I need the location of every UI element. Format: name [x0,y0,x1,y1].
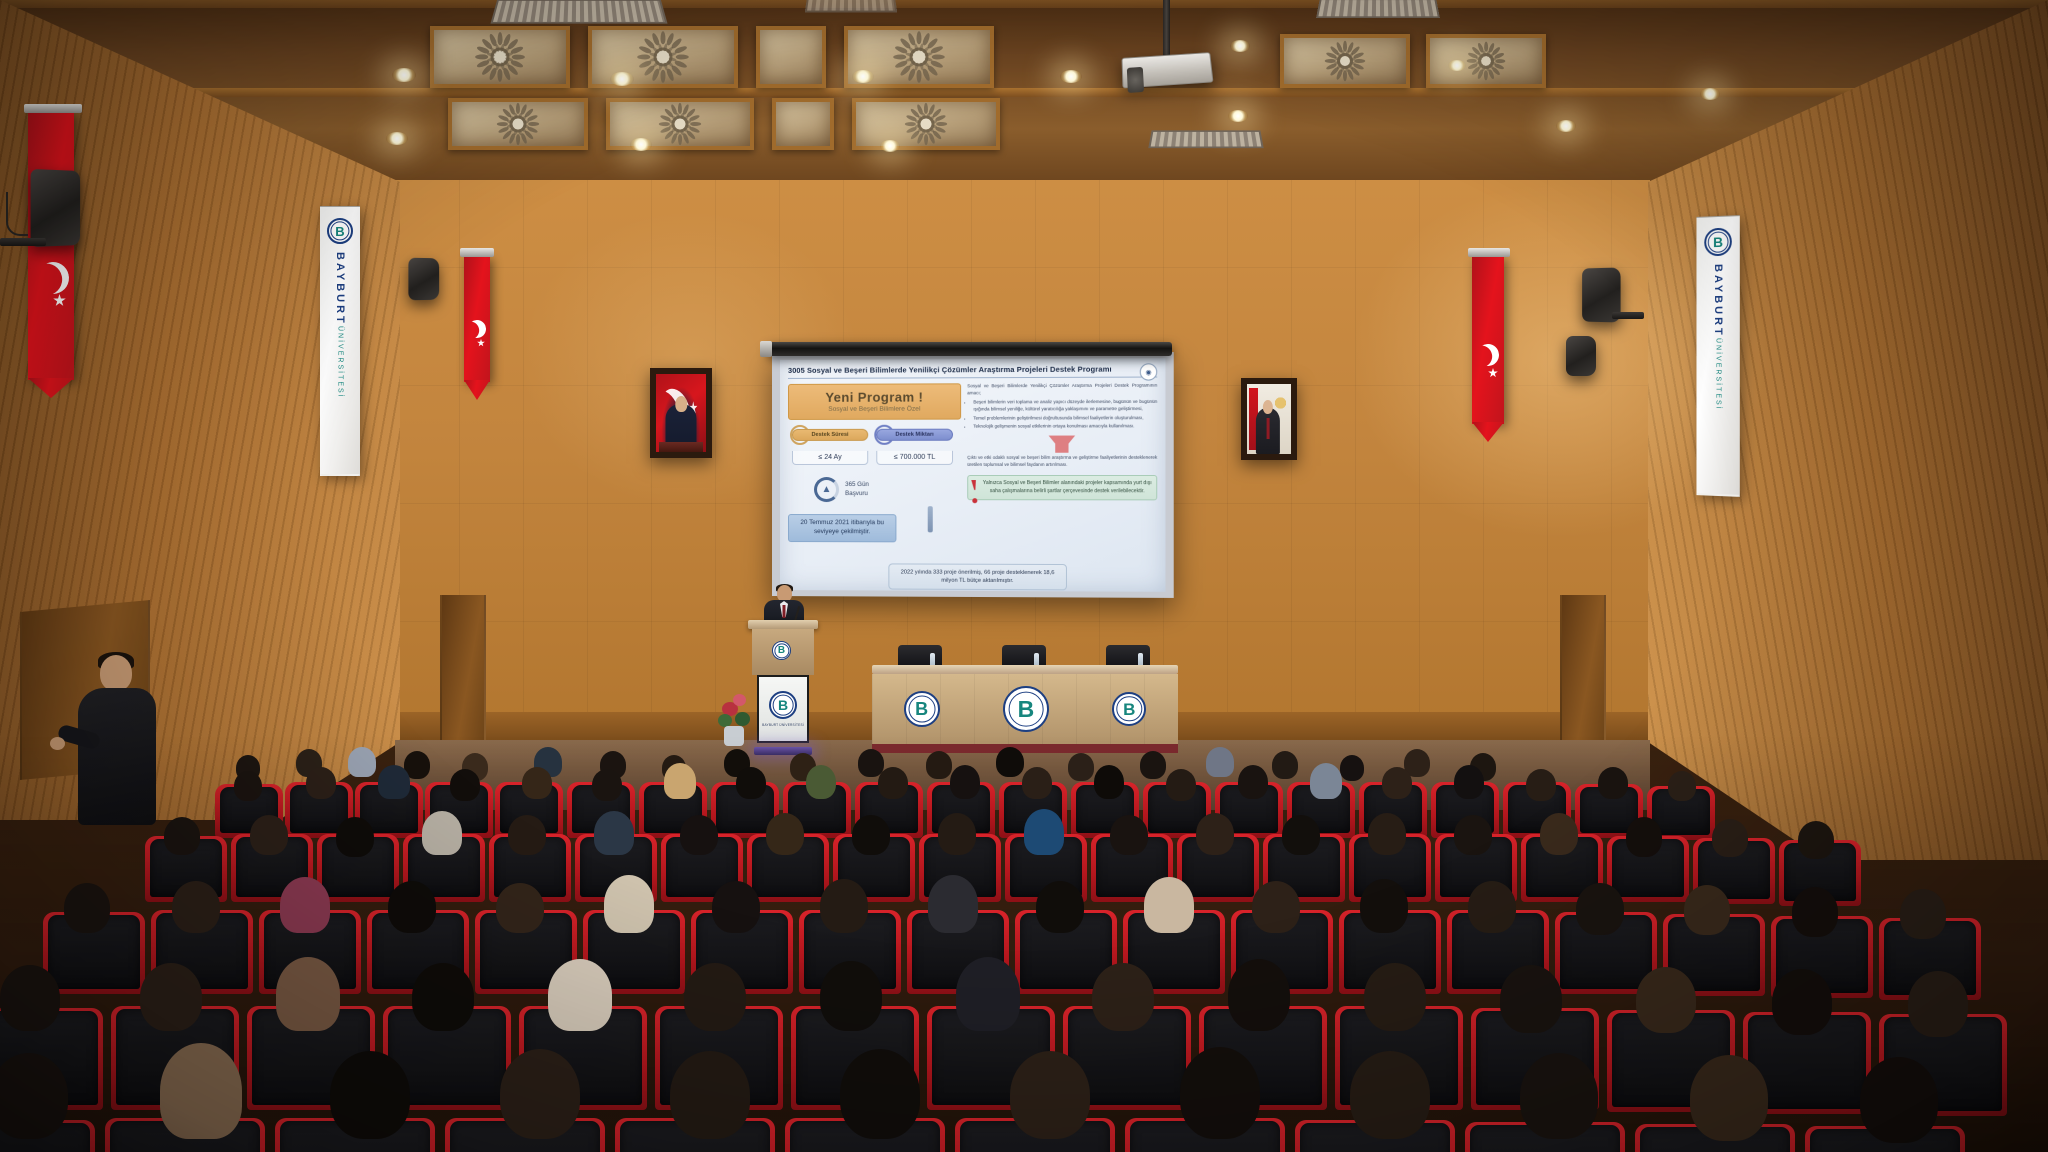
audience-head [1772,969,1832,1035]
speaker-icon [31,169,80,247]
audience-head [712,881,760,933]
air-vent-icon [490,0,667,24]
head-table-seal-mark: B [915,700,928,718]
podium: B B BAYBURT ÜNİVERSİTESİ [752,620,814,750]
downlight-icon [1448,60,1466,71]
audience-head [500,1049,580,1139]
downlight-icon [1230,40,1250,52]
audience-head [1900,889,1946,939]
audience-head [1908,971,1968,1037]
slide-metrics: Destek Süresi ≤ 24 Ay Destek Miktarı ≤ 7… [788,429,961,465]
slide-divider [788,377,1157,379]
audience-head [1540,813,1578,855]
head-table-seal-icon: B [1112,692,1146,726]
audience-head [1526,769,1556,801]
portrait-head [1263,400,1273,415]
program-objectives-list: Beşeri bilimlerin veri toplama ve analiz… [973,399,1157,431]
tubitak-logo-icon: ◉ [1140,363,1157,380]
portrait-tie [1267,418,1270,439]
audience-head [234,771,262,801]
audience-head [164,817,200,855]
portrait-figure [1256,408,1280,454]
speaker-cable [6,192,28,236]
audience-head [950,765,980,799]
audience-head [1668,771,1696,801]
slide-title: 3005 Sosyal ve Beşeri Bilimlerde Yenilik… [788,364,1157,375]
audience-head [820,879,868,933]
audience-head [1520,1053,1598,1139]
audience-head [1798,821,1834,859]
headscarf [604,875,654,933]
audience-head [1228,959,1290,1031]
application-window-text: 365 Gün Başvuru [845,481,869,498]
audience-head [1180,1047,1260,1139]
audience-head [1010,1051,1090,1139]
downlight-icon [386,132,408,145]
audience-head [1022,767,1052,799]
podium-panel-seal-mark: B [778,698,788,712]
audience [0,735,2048,1152]
university-banner-left: B BAYBURT ÜNİVERSİTESİ [320,206,360,476]
official-portrait-icon [1241,378,1297,460]
speaker-tie [783,605,786,618]
audience-head [140,963,202,1031]
metric-amount-value: ≤ 700.000 TL [876,451,953,465]
standing-attendee [72,655,164,825]
headscarf [956,957,1020,1031]
headscarf [1310,763,1342,799]
ceiling-coffer-panel [772,98,834,150]
podium-body: B [752,629,814,675]
downlight-icon [852,70,874,83]
university-seal-mark: B [335,225,344,238]
air-vent-icon [805,0,897,12]
new-program-headline: Yeni Program ! [793,390,956,406]
audience-head [592,769,622,801]
program-objective-item: Beşeri bilimlerin veri toplama ve analiz… [973,399,1157,414]
slide-bar-marker [928,506,933,532]
podium-seal-icon: B [772,641,791,660]
audience-head [996,747,1024,777]
audience-head [840,1049,920,1139]
standing-attendee-hand [50,737,65,750]
audience-head [250,815,288,855]
university-banner-right: B BAYBURT ÜNİVERSİTESİ [1696,215,1739,497]
downlight-icon [1060,70,1082,83]
university-seal-icon: B [327,218,353,244]
audience-head [1272,751,1298,779]
audience-head [388,881,436,933]
podium-panel-seal-icon: B [769,691,797,719]
audience-head [1792,887,1838,937]
headscarf [1206,747,1234,777]
projector-lens-icon [1127,67,1144,93]
podium-top [748,620,818,629]
projector-mount [1163,0,1170,58]
application-days-value: 365 Gün [845,481,869,489]
ceiling-coffer-panel [430,26,570,88]
turkish-flag-icon [464,256,490,382]
downlight-icon [392,68,416,82]
audience-head [64,883,110,933]
audience-head [938,813,976,855]
audience-head [336,817,374,857]
headscarf [548,959,612,1031]
metric-duration-value: ≤ 24 Ay [792,451,868,465]
audience-head [820,961,882,1031]
headscarf [160,1043,242,1139]
projection-screen-case [768,342,1172,356]
headscarf [378,765,410,799]
audience-head [1068,753,1094,781]
audience-head [1036,881,1084,933]
exclamation-dot-icon [972,498,977,503]
program-objective-item: Temel problemlerinin geliştirilmesi doğr… [973,415,1157,422]
panel-chair [898,645,942,667]
downlight-icon [1228,110,1248,122]
audience-head [1252,881,1300,933]
headscarf [280,877,330,933]
ceiling-coffer-panel [448,98,588,150]
arrow-down-icon [1049,436,1076,452]
audience-head [1576,883,1624,935]
audience-head [1454,815,1492,855]
university-banner-subtitle: ÜNİVERSİTESİ [1715,338,1722,411]
audience-head [450,769,480,801]
audience-head [684,963,746,1031]
audience-head [1712,819,1748,857]
turkish-flag-icon [1472,256,1504,424]
audience-head [1626,817,1662,857]
audience-head [1690,1055,1768,1141]
audience-head [508,815,546,855]
ceiling-coffer-panel [1280,34,1410,88]
audience-head [1860,1057,1938,1143]
audience-head [1238,765,1268,799]
audience-head [1382,767,1412,799]
audience-head [806,765,836,799]
program-statistics: 2022 yılında 333 proje önerilmiş, 66 pro… [888,563,1067,590]
audience-head [670,1051,750,1139]
podium-front-panel: B BAYBURT ÜNİVERSİTESİ [757,675,809,743]
downlight-icon [880,140,900,152]
audience-head [1368,813,1406,855]
university-banner-title: BAYBURT [334,252,346,326]
speaker-icon [408,258,439,301]
audience-head [1196,813,1234,855]
portrait-head [675,396,687,412]
audience-head [306,767,336,799]
ceiling-coffer-panel [606,98,754,150]
ceiling-coffer-panel [852,98,1000,150]
head-table-seal-mark: B [1123,701,1135,718]
audience-head [522,767,552,799]
headscarf [594,811,634,855]
wall-door [1560,595,1606,745]
audience-head [680,815,718,855]
portrait-emblem-icon [1274,394,1287,412]
downlight-icon [630,138,652,151]
audience-head [1110,815,1148,855]
downlight-icon [1700,88,1720,100]
audience-head [0,965,60,1031]
head-table-seal-icon: B [1003,686,1049,732]
audience-head [1684,885,1730,935]
exclamation-icon [971,480,978,496]
application-window: ▲ 365 Gün Başvuru [814,477,961,502]
metric-amount-label: Destek Miktarı [876,429,953,441]
head-table-top [872,665,1178,674]
audience-head [1350,1051,1430,1139]
university-seal-icon: B [1704,227,1732,256]
audience-head [330,1051,410,1139]
head-table-seal-icon: B [904,691,940,727]
program-objective-item: Teknolojik gelişmenin sosyal etkilerinin… [973,423,1157,430]
standing-attendee-head [100,655,132,691]
projector-icon [1121,52,1213,88]
standing-attendee-coat [78,688,156,825]
ceiling-coffer-panel [756,26,826,88]
headscarf [1024,809,1064,855]
headscarf [1144,877,1194,933]
audience-head [1282,815,1320,855]
university-banner-title: BAYBURT [1712,264,1724,338]
headscarf [422,811,462,855]
audience-head [1166,769,1196,801]
audience-head [1094,765,1124,799]
new-program-subline: Sosyal ve Beşeri Bilimlere Özel [793,406,956,413]
panel-chair [1002,645,1046,667]
slide-left-column: Yeni Program ! Sosyal ve Beşeri Bilimler… [788,384,961,543]
podium-plaque-text: BAYBURT ÜNİVERSİTESİ [762,723,804,727]
metric-duration: Destek Süresi ≤ 24 Ay [792,429,868,465]
presentation-slide: 3005 Sosyal ve Beşeri Bilimlerde Yenilik… [780,358,1165,592]
auditorium-photo: B BAYBURT ÜNİVERSİTESİ B BAYBURT ÜNİVERS… [0,0,2048,1152]
effective-date-note: 20 Temmuz 2021 itibarıyla bu seviyeye çe… [788,514,896,542]
wall-door [440,595,486,745]
downlight-icon [1556,120,1576,132]
audience-head [1468,881,1516,933]
program-outcome-text: Çıktı ve etki odaklı sosyal ve beşeri bi… [967,455,1157,469]
audience-head [1140,751,1166,779]
audience-head [766,813,804,855]
audience-head [1092,963,1154,1031]
headscarf [348,747,376,777]
program-warning-text: Yalnızca Sosyal ve Beşeri Bilimler alanı… [983,480,1152,494]
podium-seal-mark: B [778,646,785,656]
audience-head [1364,963,1426,1031]
metric-duration-label: Destek Süresi [792,429,868,441]
university-banner-subtitle: ÜNİVERSİTESİ [337,326,344,399]
audience-head [412,963,474,1031]
air-vent-icon [1316,0,1440,18]
audience-head [1340,755,1364,781]
audience-head [172,881,220,933]
program-intro-text: Sosyal ve Beşeri Bilimlerde Yenilikçi Çö… [967,383,1157,398]
portrait-desk [659,442,703,452]
university-seal-mark: B [1713,235,1723,249]
head-table-front: B B B [872,674,1178,744]
audience-head [1598,767,1628,799]
audience-head [852,815,890,855]
application-days-caption: Başvuru [845,490,869,498]
audience-head [1360,879,1408,933]
metric-amount: Destek Miktarı ≤ 700.000 TL [876,429,953,465]
air-vent-icon [1148,130,1263,148]
headscarf [664,763,696,799]
headscarf [276,957,340,1031]
slide-right-column: Sosyal ve Beşeri Bilimlerde Yenilikçi Çö… [967,383,1157,543]
ataturk-portrait-icon [650,368,712,458]
projection-screen: 3005 Sosyal ve Beşeri Bilimlerde Yenilik… [772,352,1174,598]
head-table-seal-mark: B [1018,698,1035,721]
audience-head [496,883,544,933]
calendar-icon: ▲ [814,477,839,502]
headscarf [928,875,978,933]
audience-head [878,767,908,799]
audience-head [1454,765,1484,799]
panel-chair [1106,645,1150,667]
speaker-bracket [1612,312,1644,319]
audience-head [926,751,952,779]
speaker-icon [1566,336,1596,376]
audience-head [1500,965,1562,1033]
ceiling-coffer-panel [1426,34,1546,88]
audience-head [736,767,766,799]
program-warning-note: Yalnızca Sosyal ve Beşeri Bilimler alanı… [967,475,1157,500]
speaker-bracket [0,238,46,246]
downlight-icon [610,72,634,86]
audience-head [1636,967,1696,1033]
new-program-callout: Yeni Program ! Sosyal ve Beşeri Bilimler… [788,384,961,421]
